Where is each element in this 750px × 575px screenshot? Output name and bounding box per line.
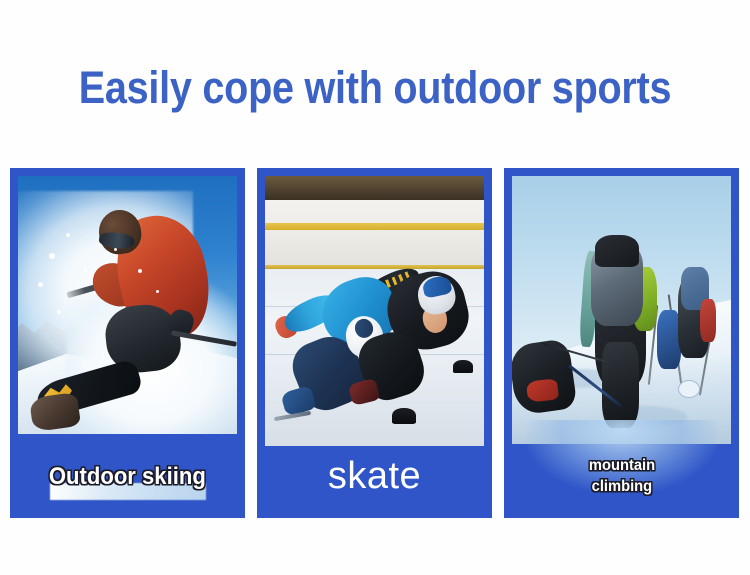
rink-upper-wall [265, 176, 484, 200]
page-title: Easily cope with outdoor sports [45, 60, 705, 116]
snow-flake [66, 233, 70, 237]
skiing-photo [18, 176, 237, 434]
pole-snow-basket [678, 380, 700, 398]
track-marker-cone [453, 360, 473, 374]
card-caption-mountain: mountain [588, 455, 654, 476]
sport-card-skate[interactable]: skate [257, 168, 492, 518]
promo-banner: Easily cope with outdoor sports [0, 0, 750, 575]
climber-foreground-red-gear [526, 378, 559, 403]
card-caption-outdoor-skiing: Outdoor skiing [49, 463, 206, 490]
caption-area-skiing: Outdoor skiing [10, 434, 245, 518]
caption-area-skate: skate [257, 434, 492, 518]
climber-lead-legs [602, 342, 639, 428]
climber-second-body [657, 310, 681, 369]
rink-yellow-stripe-upper [265, 223, 484, 230]
sport-card-list: Outdoor skiing [10, 168, 740, 518]
snow-flake [38, 282, 43, 287]
sport-card-outdoor-skiing[interactable]: Outdoor skiing [10, 168, 245, 518]
rink-boards [265, 200, 484, 270]
skating-photo [265, 176, 484, 446]
caption-area-mountain-climbing: mountain climbing [504, 434, 739, 518]
track-marker-cone [392, 408, 416, 424]
snow-flake [156, 290, 159, 293]
climber-third-red-gear [700, 299, 715, 342]
climber-lead-backpack-top [595, 235, 639, 267]
mountain-climbing-photo [512, 176, 731, 444]
snow-flake [84, 269, 87, 272]
card-caption-skate: skate [328, 455, 421, 497]
card-caption-climbing: climbing [591, 476, 652, 497]
sport-card-mountain-climbing[interactable]: mountain climbing [504, 168, 739, 518]
